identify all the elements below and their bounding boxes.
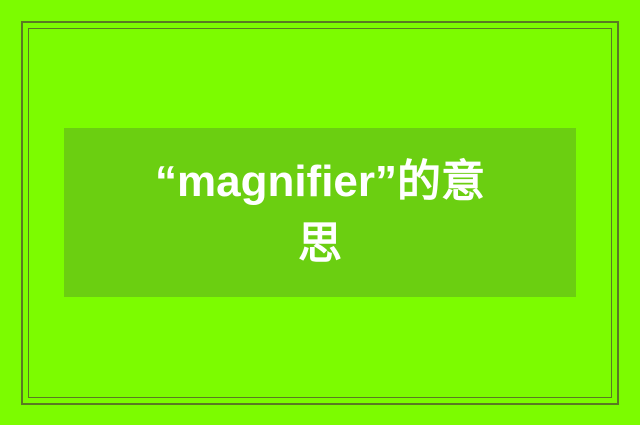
image-canvas: “magnifier”的意思: [0, 0, 640, 425]
headline-panel: “magnifier”的意思: [64, 128, 576, 297]
headline-text: “magnifier”的意思: [150, 151, 490, 275]
